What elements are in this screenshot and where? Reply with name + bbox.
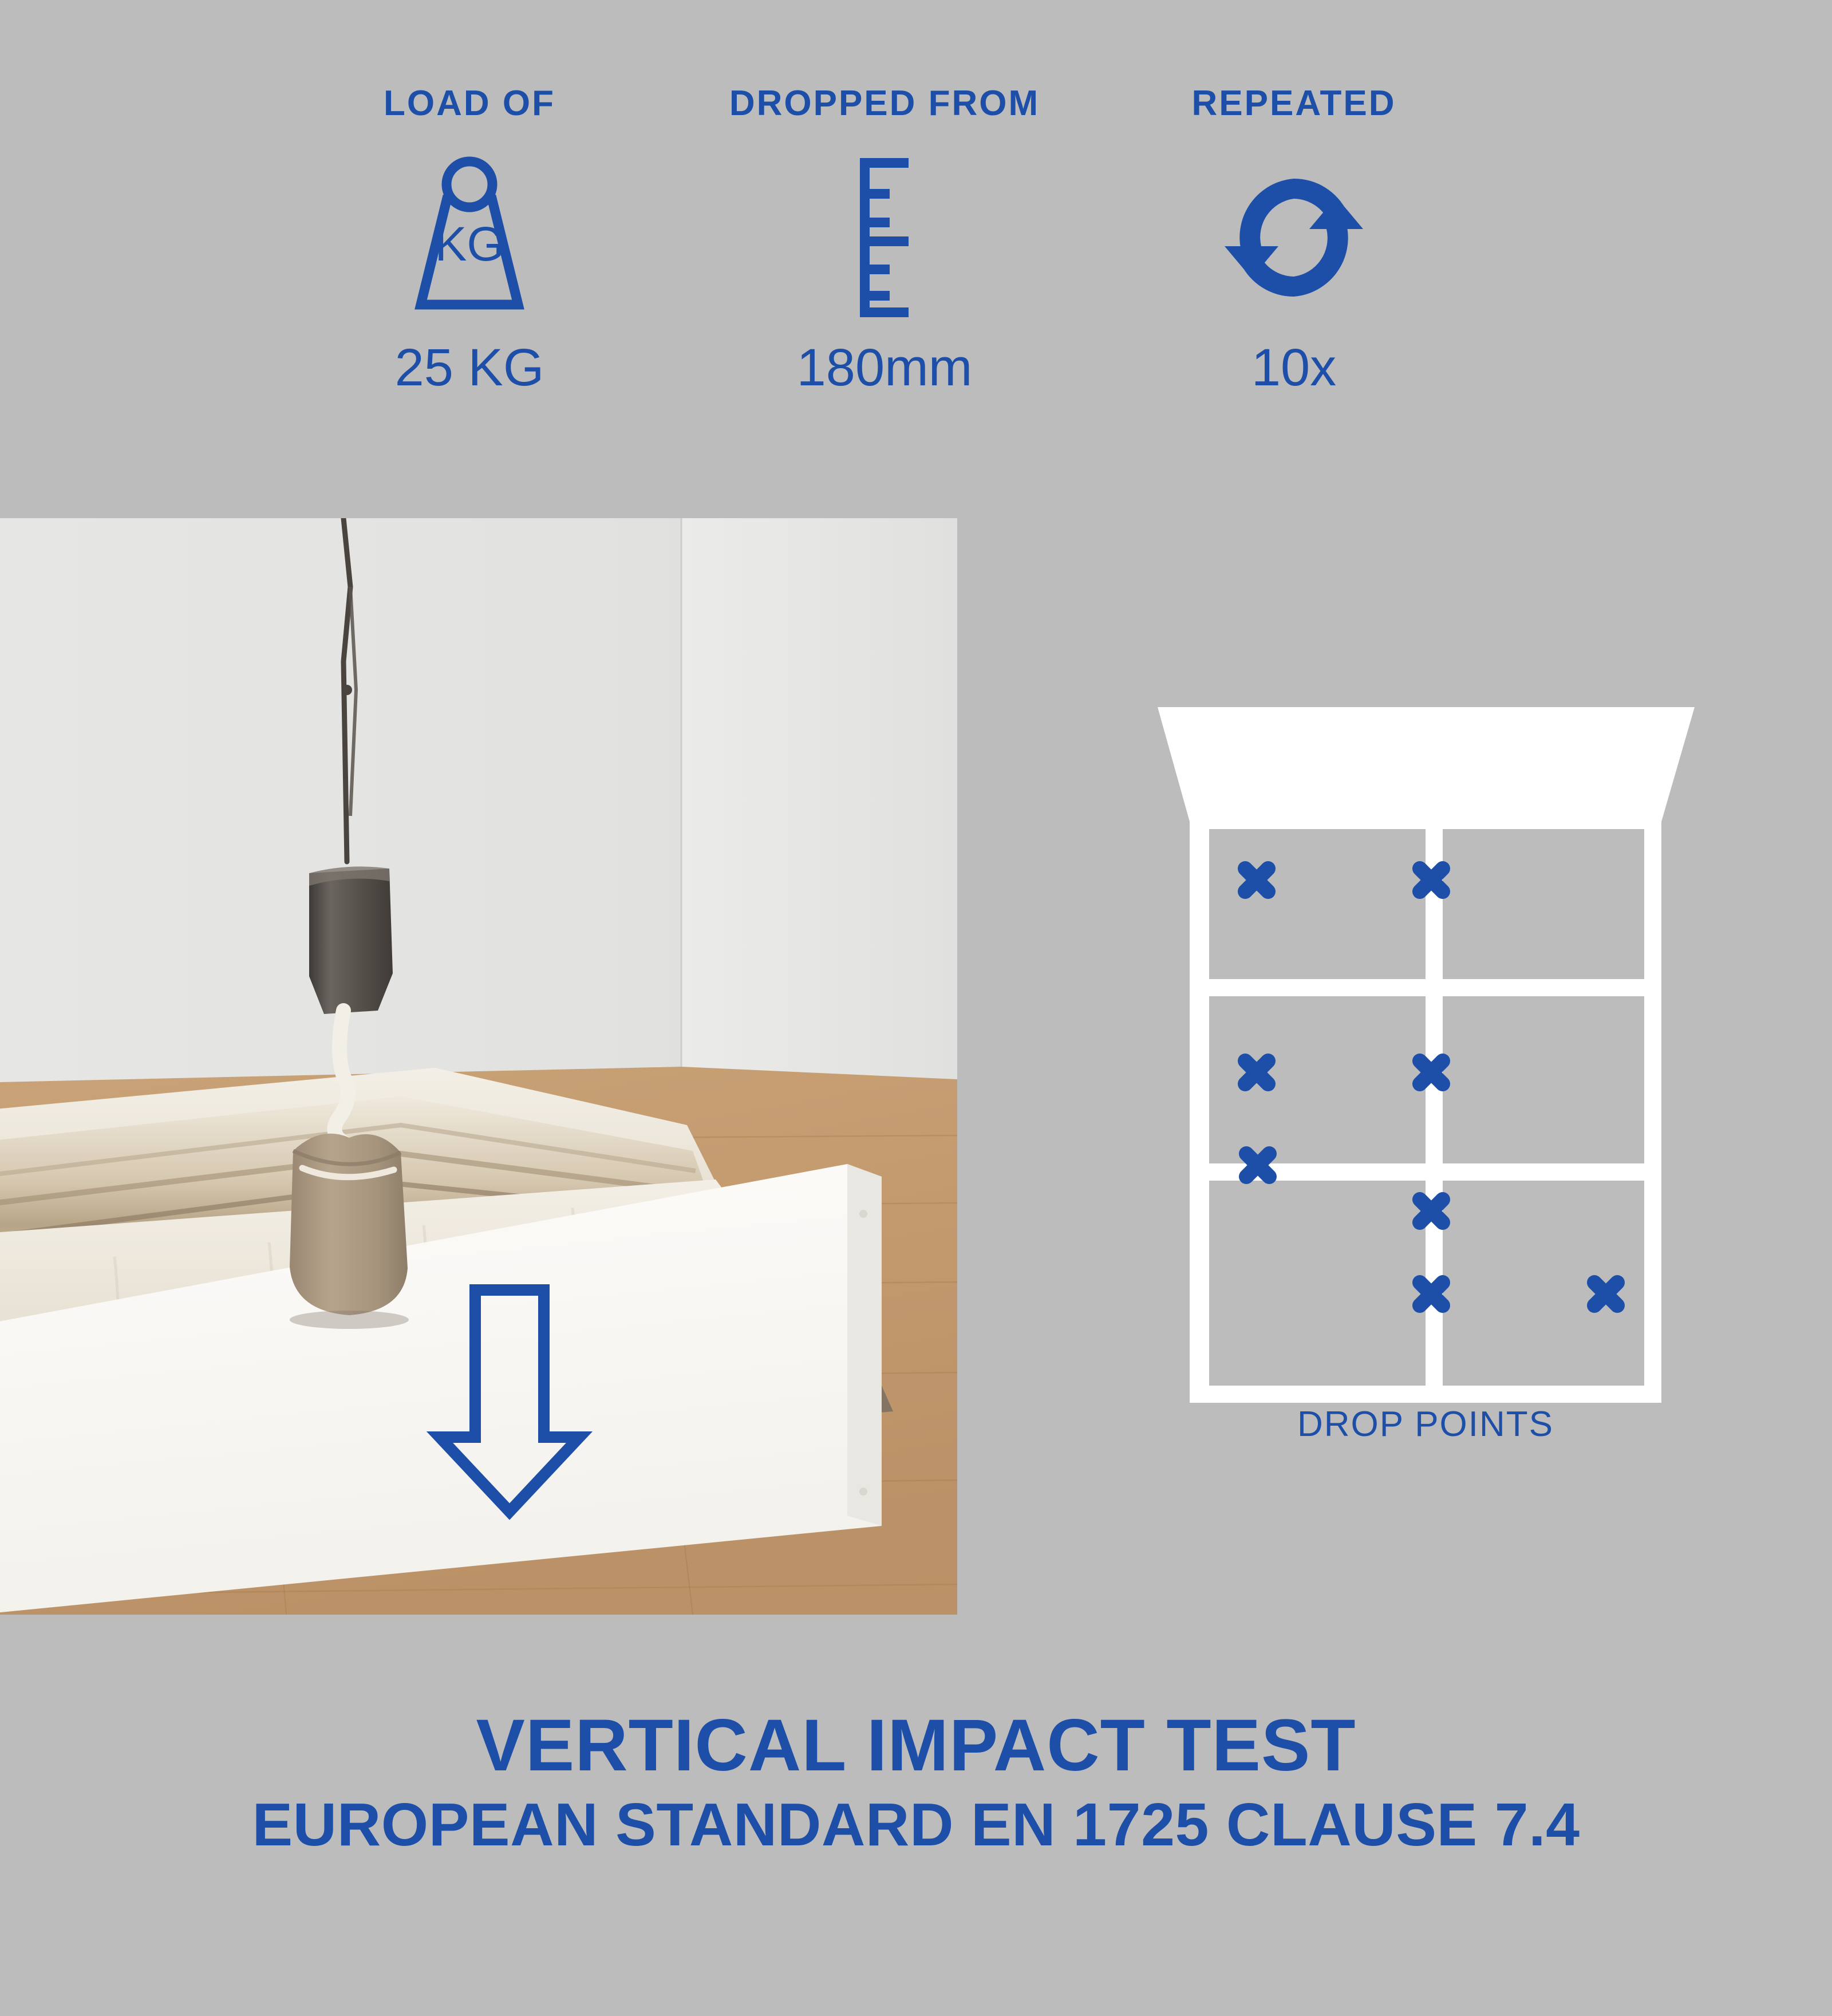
weight-icon-label: KG <box>435 217 504 271</box>
drop-point-mark <box>1420 1061 1443 1084</box>
spec-value-repeat: 10x <box>1116 341 1471 394</box>
weight-kg-icon: KG <box>292 143 647 332</box>
test-photo <box>0 518 957 1615</box>
title-block: VERTICAL IMPACT TEST EUROPEAN STANDARD E… <box>0 1706 1832 1859</box>
spec-strip: LOAD OF KG 25 KG DROPPED FROM <box>0 0 1832 504</box>
spec-header-load: LOAD OF <box>292 86 647 121</box>
drop-point-mark <box>1420 1283 1443 1305</box>
spec-header-height: DROPPED FROM <box>707 86 1062 121</box>
spec-value-load: 25 KG <box>292 341 647 394</box>
spec-value-height: 180mm <box>707 341 1062 394</box>
spec-column-height: DROPPED FROM 180mm <box>707 86 1062 394</box>
ruler-icon <box>707 143 1062 332</box>
drop-point-mark <box>1246 1154 1269 1177</box>
page-subtitle: EUROPEAN STANDARD EN 1725 CLAUSE 7.4 <box>0 1791 1832 1859</box>
spec-column-load: LOAD OF KG 25 KG <box>292 86 647 394</box>
drop-points-diagram <box>1122 681 1729 1403</box>
spec-header-repeat: REPEATED <box>1116 86 1471 121</box>
drop-points-caption: DROP POINTS <box>1122 1404 1729 1445</box>
cabinet-top-panel <box>1158 707 1695 822</box>
drop-point-mark <box>1245 1061 1268 1084</box>
drop-point-mark <box>1420 1200 1443 1222</box>
drop-point-mark <box>1245 869 1268 891</box>
drop-point-mark <box>1594 1283 1617 1305</box>
spec-column-repeat: REPEATED 10x <box>1116 86 1471 394</box>
infographic-page: LOAD OF KG 25 KG DROPPED FROM <box>0 0 1832 2016</box>
drop-point-mark <box>1420 869 1443 891</box>
repeat-cycle-icon <box>1116 143 1471 332</box>
page-title: VERTICAL IMPACT TEST <box>0 1706 1832 1785</box>
